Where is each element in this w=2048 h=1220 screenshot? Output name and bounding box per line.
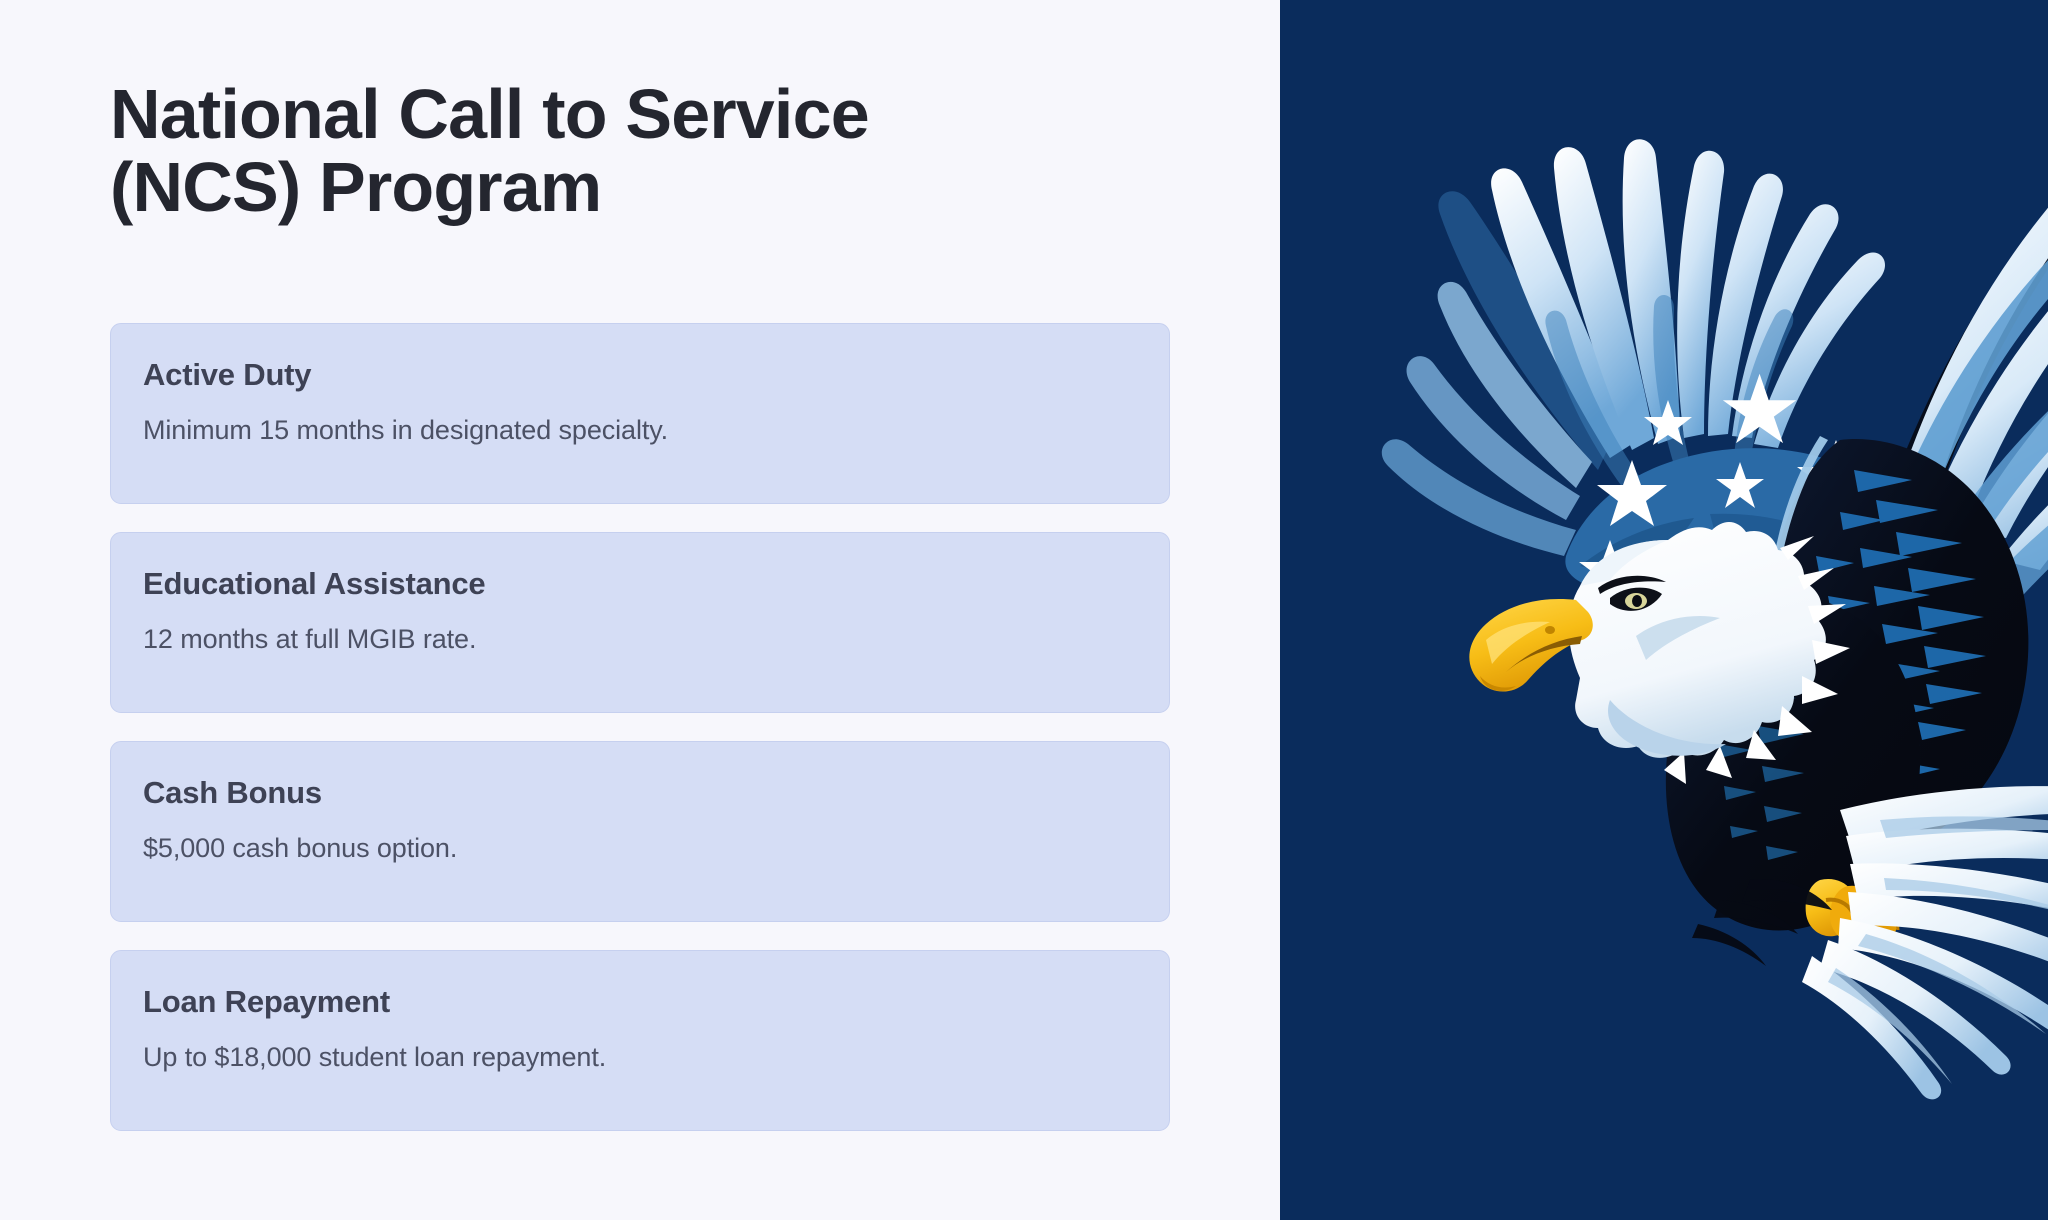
benefit-card-educational-assistance[interactable]: Educational Assistance 12 months at full… (110, 532, 1170, 713)
card-title: Loan Repayment (143, 985, 1137, 1019)
page-title: National Call to Service (NCS) Program (110, 78, 1070, 224)
benefit-card-active-duty[interactable]: Active Duty Minimum 15 months in designa… (110, 323, 1170, 504)
card-description: Minimum 15 months in designated specialt… (143, 414, 1137, 446)
illustration-panel (1280, 0, 2048, 1220)
card-title: Educational Assistance (143, 567, 1137, 601)
page-title-line-1: National Call to Service (110, 75, 869, 153)
benefit-card-loan-repayment[interactable]: Loan Repayment Up to $18,000 student loa… (110, 950, 1170, 1131)
card-description: 12 months at full MGIB rate. (143, 623, 1137, 655)
card-description: Up to $18,000 student loan repayment. (143, 1041, 1137, 1073)
slide-root: National Call to Service (NCS) Program A… (0, 0, 2048, 1220)
benefit-card-cash-bonus[interactable]: Cash Bonus $5,000 cash bonus option. (110, 741, 1170, 922)
bald-eagle-icon (1280, 0, 2048, 1220)
content-panel: National Call to Service (NCS) Program A… (0, 0, 1280, 1220)
page-title-line-2: (NCS) Program (110, 148, 601, 226)
card-description: $5,000 cash bonus option. (143, 832, 1137, 864)
card-title: Active Duty (143, 358, 1137, 392)
card-title: Cash Bonus (143, 776, 1137, 810)
benefit-card-list: Active Duty Minimum 15 months in designa… (110, 323, 1170, 1131)
